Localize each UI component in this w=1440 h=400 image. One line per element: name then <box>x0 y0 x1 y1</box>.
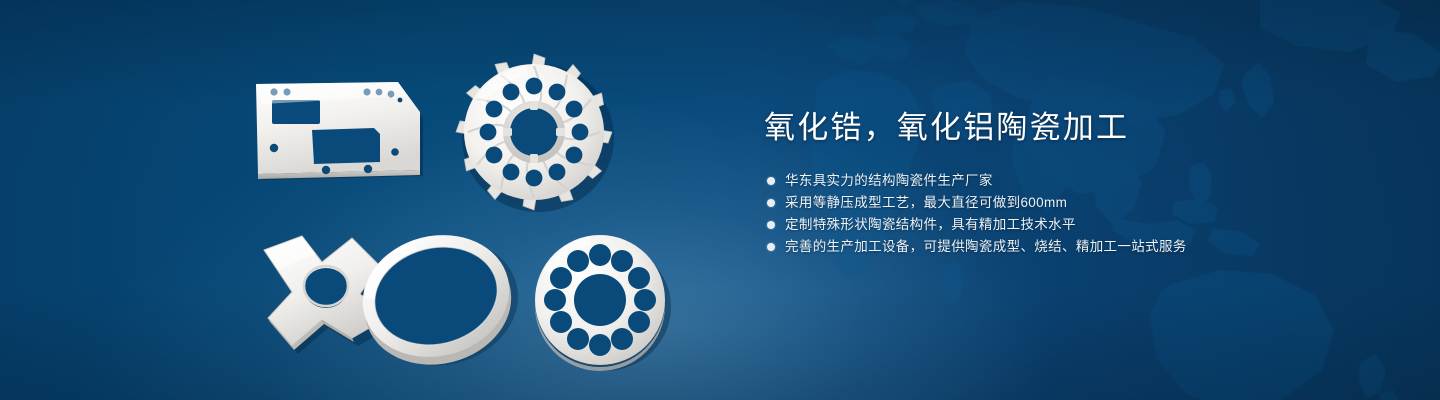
bullet-dot-icon <box>767 221 775 229</box>
feature-bullet-text: 采用等静压成型工艺，最大直径可做到600mm <box>785 192 1067 214</box>
hero-banner: 氧化锆，氧化铝陶瓷加工 华东具实力的结构陶瓷件生产厂家 采用等静压成型工艺，最大… <box>0 0 1440 400</box>
feature-bullet-text: 华东具实力的结构陶瓷件生产厂家 <box>785 170 993 192</box>
banner-headline: 氧化锆，氧化铝陶瓷加工 <box>764 108 1384 148</box>
feature-bullet-item: 完善的生产加工设备，可提供陶瓷成型、烧结、精加工一站式服务 <box>764 236 1384 258</box>
feature-bullet-item: 采用等静压成型工艺，最大直径可做到600mm <box>764 192 1384 214</box>
ceramic-machined-plate-image <box>248 72 438 192</box>
bullet-dot-icon <box>767 243 775 251</box>
feature-bullet-text: 定制特殊形状陶瓷结构件，具有精加工技术水平 <box>785 214 1076 236</box>
feature-bullet-text: 完善的生产加工设备，可提供陶瓷成型、烧结、精加工一站式服务 <box>785 236 1187 258</box>
bullet-dot-icon <box>767 199 775 207</box>
feature-bullet-item: 华东具实力的结构陶瓷件生产厂家 <box>764 170 1384 192</box>
ceramic-ring-image <box>352 228 522 368</box>
banner-text-block: 氧化锆，氧化铝陶瓷加工 华东具实力的结构陶瓷件生产厂家 采用等静压成型工艺，最大… <box>764 108 1384 258</box>
product-image-group <box>0 0 740 400</box>
ceramic-impeller-image <box>444 48 624 216</box>
bullet-dot-icon <box>767 177 775 185</box>
feature-bullet-item: 定制特殊形状陶瓷结构件，具有精加工技术水平 <box>764 214 1384 236</box>
ceramic-perforated-disc-image <box>516 222 686 382</box>
feature-bullet-list: 华东具实力的结构陶瓷件生产厂家 采用等静压成型工艺，最大直径可做到600mm 定… <box>764 170 1384 258</box>
